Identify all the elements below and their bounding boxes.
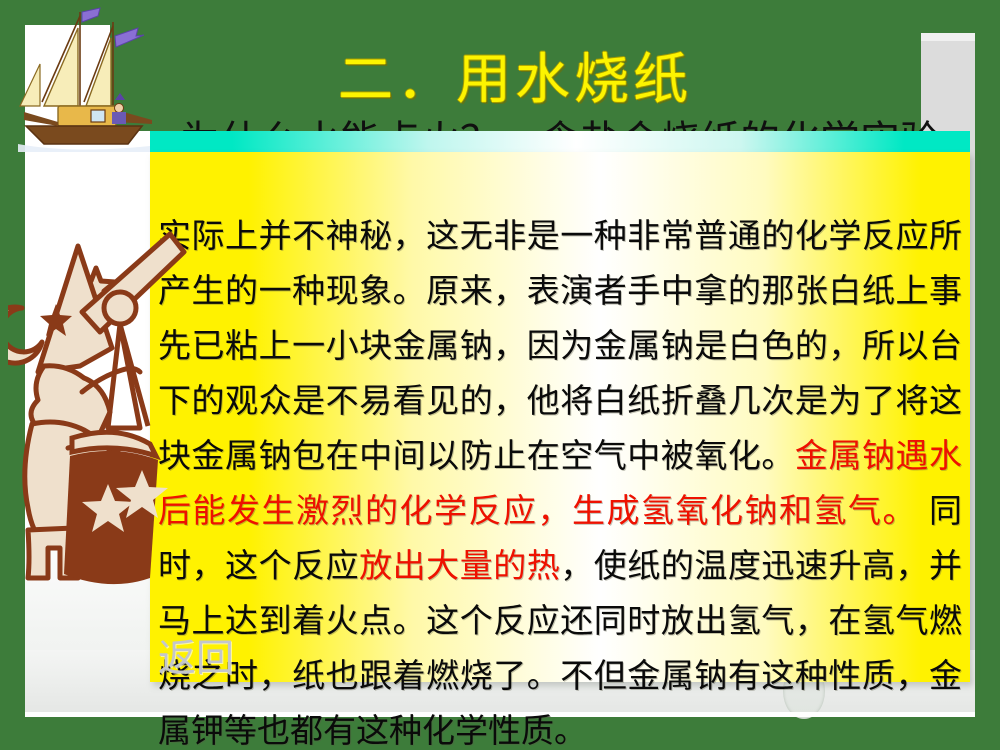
return-link[interactable]: 返回 xyxy=(158,636,234,680)
page-title: 二．用水烧纸 xyxy=(120,48,910,110)
wizard-telescope-icon xyxy=(8,212,188,602)
content-panel: 实际上并不神秘，这无非是一种非常普通的化学反应所产生的一种现象。原来，表演者手中… xyxy=(150,152,970,682)
body-text: 实际上并不神秘，这无非是一种非常普通的化学反应所产生的一种现象。原来，表演者手中… xyxy=(158,208,962,750)
sailboat-icon xyxy=(12,2,152,152)
body-run-3: 放出大量的热 xyxy=(359,546,560,585)
panel-top-strip xyxy=(150,131,970,154)
slide-canvas: 二．用水烧纸 为什么水能点火？，食盐会烧纸的化学实验 实际上并不神秘，这无非是一… xyxy=(0,0,1000,750)
